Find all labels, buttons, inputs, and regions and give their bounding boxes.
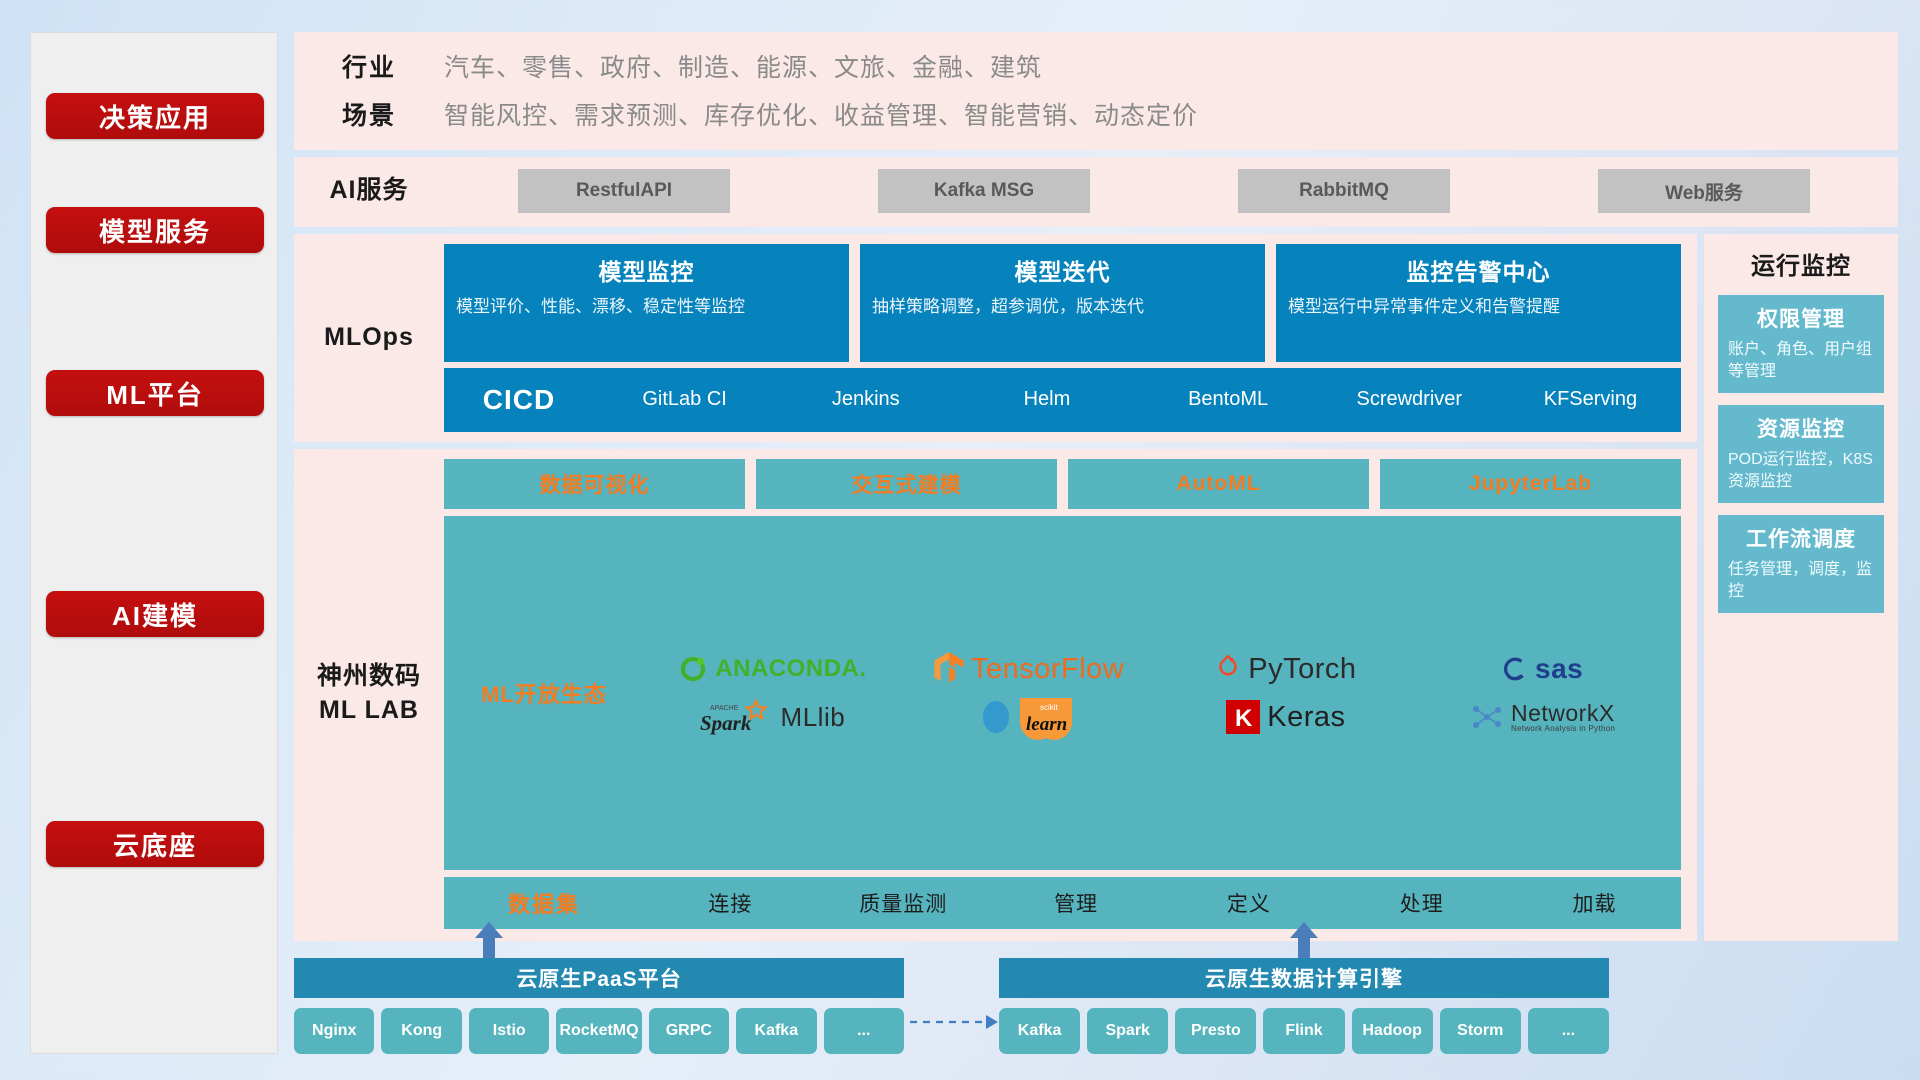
cloud-compute-title: 云原生数据计算引擎 <box>999 958 1609 998</box>
ai-service-band: AI服务 RestfulAPI Kafka MSG RabbitMQ Web服务 <box>294 157 1898 227</box>
svg-text:Spark: Spark <box>700 711 752 735</box>
tool-label: 交互式建模 <box>852 469 962 499</box>
service-chip-kafka-msg[interactable]: Kafka MSG <box>878 169 1090 213</box>
monitor-card-resource[interactable]: 资源监控 POD运行监控，K8S资源监控 <box>1718 405 1884 503</box>
keras-mark-icon: K <box>1226 700 1260 734</box>
tool-data-visualization[interactable]: 数据可视化 <box>444 459 745 509</box>
card-title: 权限管理 <box>1728 303 1874 333</box>
scenario-value: 智能风控、需求预测、库存优化、收益管理、智能营销、动态定价 <box>444 96 1198 132</box>
networkx-text: NetworkX <box>1511 702 1615 725</box>
compute-item-more[interactable]: ... <box>1528 1008 1609 1054</box>
ml-lab-line2: ML LAB <box>319 694 419 728</box>
cicd-item-jenkins[interactable]: Jenkins <box>775 388 956 412</box>
dataset-item-definition[interactable]: 定义 <box>1162 888 1335 918</box>
ml-ecosystem: ML开放生态 ANACONDA. TensorFlo <box>444 516 1681 870</box>
paas-item-rocketmq[interactable]: RocketMQ <box>556 1008 641 1054</box>
monitor-card-workflow[interactable]: 工作流调度 任务管理，调度，监控 <box>1718 515 1884 613</box>
card-title: 模型迭代 <box>872 253 1253 287</box>
bidirectional-link-arrows <box>906 1002 1000 1080</box>
mlops-band: MLOps 模型监控 模型评价、性能、漂移、稳定性等监控 模型迭代 抽样策略调整… <box>294 234 1697 442</box>
service-chip-rabbitmq[interactable]: RabbitMQ <box>1238 169 1450 213</box>
paas-item-kafka[interactable]: Kafka <box>736 1008 816 1054</box>
chip-label: RabbitMQ <box>1299 180 1389 202</box>
sas-text: sas <box>1535 653 1583 685</box>
tool-automl[interactable]: AutoML <box>1068 459 1369 509</box>
ai-service-label: AI服务 <box>294 174 444 208</box>
rail-item-ai-modeling[interactable]: AI建模 <box>46 591 264 637</box>
svg-text:K: K <box>1235 705 1253 732</box>
paas-item-more[interactable]: ... <box>824 1008 904 1054</box>
industry-key: 行业 <box>294 48 444 84</box>
pytorch-logo: PyTorch <box>1215 653 1356 686</box>
dataset-item-management[interactable]: 管理 <box>990 888 1163 918</box>
up-arrow-compute-icon <box>1289 922 1319 958</box>
keras-logo: K Keras <box>1226 700 1345 734</box>
dataset-item-processing[interactable]: 处理 <box>1335 888 1508 918</box>
eco-label: ML开放生态 <box>444 677 644 709</box>
architecture-diagram: 决策应用 模型服务 ML平台 AI建模 云底座 行业 汽车、零售、政府、制造、能… <box>0 0 1920 1080</box>
compute-item-storm[interactable]: Storm <box>1440 1008 1521 1054</box>
runtime-monitor-panel: 运行监控 权限管理 账户、角色、用户组等管理 资源监控 POD运行监控，K8S资… <box>1704 234 1898 941</box>
cloud-base-zone: 云原生PaaS平台 Nginx Kong Istio RocketMQ GRPC… <box>294 958 1898 1054</box>
sas-mark-icon <box>1502 656 1528 682</box>
pytorch-text: PyTorch <box>1248 653 1356 686</box>
tool-jupyterlab[interactable]: JupyterLab <box>1380 459 1681 509</box>
networkx-mark-icon <box>1470 701 1504 733</box>
paas-item-nginx[interactable]: Nginx <box>294 1008 374 1054</box>
compute-item-presto[interactable]: Presto <box>1175 1008 1256 1054</box>
compute-item-hadoop[interactable]: Hadoop <box>1352 1008 1433 1054</box>
up-arrow-paas-icon <box>474 922 504 958</box>
cicd-item-kfserving[interactable]: KFServing <box>1500 388 1681 412</box>
anaconda-mark-icon <box>678 654 708 684</box>
business-row-scenario: 场景 智能风控、需求预测、库存优化、收益管理、智能营销、动态定价 <box>294 96 1880 132</box>
dataset-label: 数据集 <box>444 887 644 919</box>
cicd-item-screwdriver[interactable]: Screwdriver <box>1319 388 1500 412</box>
rail-item-ml-platform[interactable]: ML平台 <box>46 370 264 416</box>
spark-mllib-logo: APACHE Spark MLlib <box>700 697 846 737</box>
tool-label: 数据可视化 <box>540 469 650 499</box>
tensorflow-text: TensorFlow <box>971 653 1124 686</box>
cloud-compute-column: 云原生数据计算引擎 Kafka Spark Presto Flink Hadoo… <box>999 958 1609 1054</box>
cicd-item-helm[interactable]: Helm <box>956 388 1137 412</box>
cicd-title: CICD <box>444 384 594 416</box>
business-band: 行业 汽车、零售、政府、制造、能源、文旅、金融、建筑 场景 智能风控、需求预测、… <box>294 32 1898 150</box>
cloud-paas-column: 云原生PaaS平台 Nginx Kong Istio RocketMQ GRPC… <box>294 958 904 1054</box>
card-title: 监控告警中心 <box>1288 253 1669 287</box>
card-desc: 模型评价、性能、漂移、稳定性等监控 <box>456 295 837 319</box>
platform-area: MLOps 模型监控 模型评价、性能、漂移、稳定性等监控 模型迭代 抽样策略调整… <box>294 234 1898 941</box>
rail-label: 决策应用 <box>99 98 211 135</box>
card-title: 资源监控 <box>1728 413 1874 443</box>
chip-label: RestfulAPI <box>576 180 672 202</box>
pytorch-mark-icon <box>1215 654 1241 684</box>
rail-label: 云底座 <box>113 826 197 863</box>
tensorflow-mark-icon <box>934 652 964 686</box>
spark-mark-icon: APACHE Spark <box>700 697 774 737</box>
mlops-card-alert-center[interactable]: 监控告警中心 模型运行中异常事件定义和告警提醒 <box>1276 244 1681 362</box>
compute-item-kafka[interactable]: Kafka <box>999 1008 1080 1054</box>
sas-logo: sas <box>1502 653 1583 685</box>
mlops-card-model-iteration[interactable]: 模型迭代 抽样策略调整，超参调优，版本迭代 <box>860 244 1265 362</box>
service-chip-web-service[interactable]: Web服务 <box>1598 169 1810 213</box>
dataset-item-loading[interactable]: 加载 <box>1508 888 1681 918</box>
compute-item-flink[interactable]: Flink <box>1263 1008 1344 1054</box>
industry-value: 汽车、零售、政府、制造、能源、文旅、金融、建筑 <box>444 48 1042 84</box>
chip-label: Web服务 <box>1665 178 1743 205</box>
card-desc: POD运行监控，K8S资源监控 <box>1728 449 1874 493</box>
rail-item-model-service[interactable]: 模型服务 <box>46 207 264 253</box>
layer-rail: 决策应用 模型服务 ML平台 AI建模 云底座 <box>30 32 278 1054</box>
rail-label: 模型服务 <box>99 212 211 249</box>
ml-lab-line1: 神州数码 <box>317 660 421 694</box>
networkx-tagline: Network Analysis in Python <box>1511 725 1615 733</box>
mlops-card-model-monitoring[interactable]: 模型监控 模型评价、性能、漂移、稳定性等监控 <box>444 244 849 362</box>
scikit-learn-logo: scikit learn <box>981 694 1078 740</box>
rail-item-cloud-base[interactable]: 云底座 <box>46 821 264 867</box>
scikit-orange-blob-icon: scikit learn <box>1014 694 1078 740</box>
rail-item-decision-application[interactable]: 决策应用 <box>46 93 264 139</box>
card-title: 模型监控 <box>456 253 837 287</box>
anaconda-text: ANACONDA. <box>715 655 866 683</box>
keras-text: Keras <box>1267 701 1345 734</box>
card-desc: 账户、角色、用户组等管理 <box>1728 339 1874 383</box>
cloud-paas-title: 云原生PaaS平台 <box>294 958 904 998</box>
networkx-logo: NetworkX Network Analysis in Python <box>1470 701 1615 733</box>
mllib-text: MLlib <box>781 702 846 733</box>
card-title: 工作流调度 <box>1728 523 1874 553</box>
tensorflow-logo: TensorFlow <box>934 652 1124 686</box>
mlops-label: MLOps <box>294 244 444 432</box>
anaconda-logo: ANACONDA. <box>678 654 866 684</box>
service-chip-restfulapi[interactable]: RestfulAPI <box>518 169 730 213</box>
cicd-item-bentoml[interactable]: BentoML <box>1138 388 1319 412</box>
tool-label: AutoML <box>1176 472 1260 496</box>
card-desc: 抽样策略调整，超参调优，版本迭代 <box>872 295 1253 319</box>
tool-label: JupyterLab <box>1469 472 1592 496</box>
dataset-item-connect[interactable]: 连接 <box>644 888 817 918</box>
ml-lab-label: 神州数码 ML LAB <box>294 459 444 929</box>
compute-item-spark[interactable]: Spark <box>1087 1008 1168 1054</box>
card-desc: 任务管理，调度，监控 <box>1728 559 1874 603</box>
paas-item-grpc[interactable]: GRPC <box>649 1008 729 1054</box>
scenario-key: 场景 <box>294 96 444 132</box>
chip-label: Kafka MSG <box>934 180 1034 202</box>
rail-label: ML平台 <box>106 375 204 412</box>
modeling-band: 神州数码 ML LAB 数据可视化 交互式建模 AutoML JupyterLa… <box>294 449 1697 941</box>
monitor-card-permission[interactable]: 权限管理 账户、角色、用户组等管理 <box>1718 295 1884 393</box>
dataset-item-quality-monitoring[interactable]: 质量监测 <box>817 888 990 918</box>
main-stack: 行业 汽车、零售、政府、制造、能源、文旅、金融、建筑 场景 智能风控、需求预测、… <box>294 32 1898 1054</box>
dataset-row: 数据集 连接 质量监测 管理 定义 处理 加载 <box>444 877 1681 929</box>
paas-item-kong[interactable]: Kong <box>381 1008 461 1054</box>
tool-interactive-modeling[interactable]: 交互式建模 <box>756 459 1057 509</box>
business-row-industry: 行业 汽车、零售、政府、制造、能源、文旅、金融、建筑 <box>294 48 1880 84</box>
card-desc: 模型运行中异常事件定义和告警提醒 <box>1288 295 1669 319</box>
cicd-item-gitlab-ci[interactable]: GitLab CI <box>594 388 775 412</box>
rail-label: AI建模 <box>112 596 198 633</box>
svg-text:learn: learn <box>1026 714 1067 735</box>
svg-text:scikit: scikit <box>1040 703 1059 712</box>
cicd-row: CICD GitLab CI Jenkins Helm BentoML Scre… <box>444 368 1681 432</box>
paas-item-istio[interactable]: Istio <box>469 1008 549 1054</box>
monitor-title: 运行监控 <box>1718 246 1884 281</box>
